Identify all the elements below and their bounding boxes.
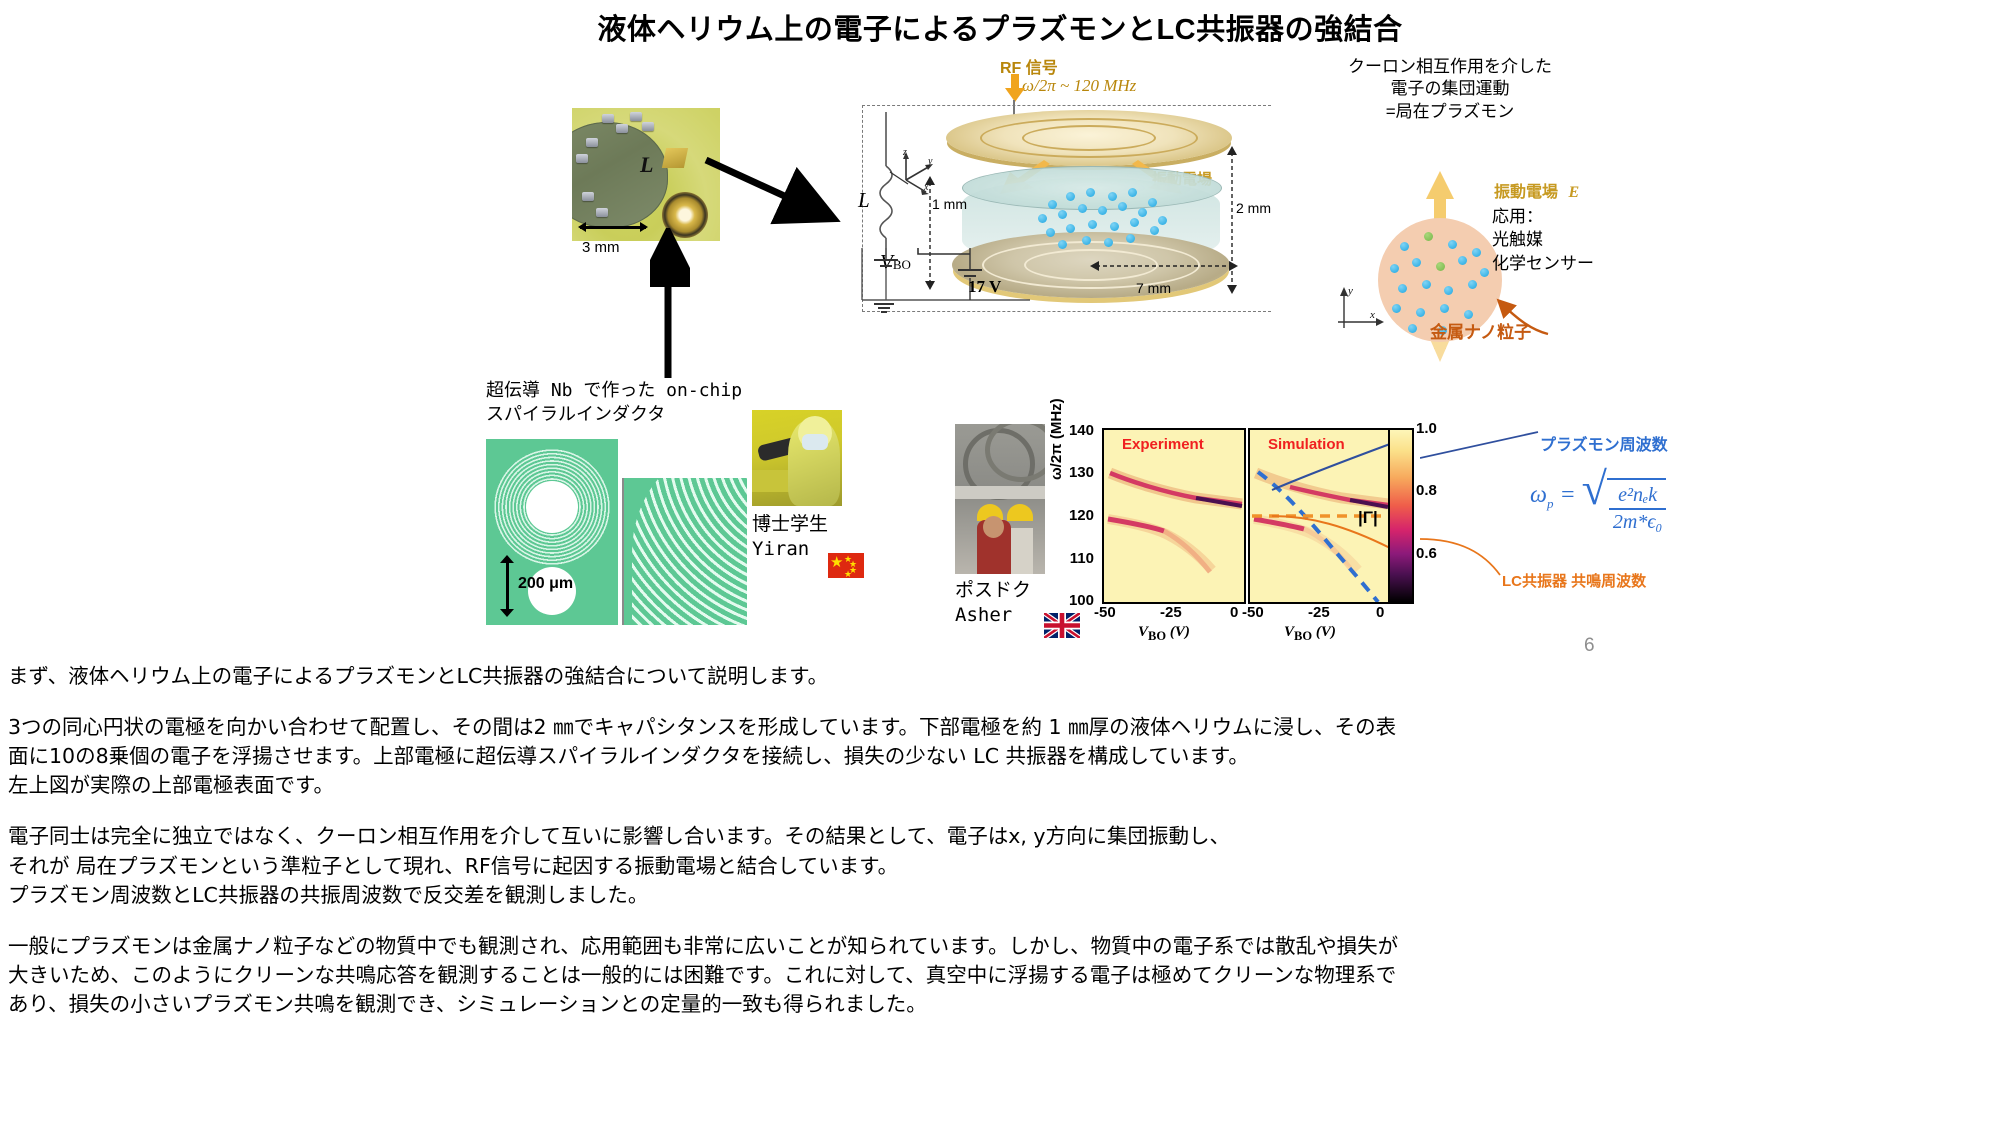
experiment-panel: Experiment bbox=[1102, 428, 1246, 604]
dimension-1mm-label: 1 mm bbox=[932, 196, 967, 212]
equation-numerator: e²nₑk bbox=[1609, 484, 1666, 508]
coulomb-caption-line1: クーロン相互作用を介した bbox=[1300, 56, 1600, 78]
rf-frequency-label: ω/2π ~ 120 MHz bbox=[1022, 76, 1136, 96]
spiral-inductor-zoom-image bbox=[622, 478, 747, 625]
anticrossing-figure: ω/2π (MHz) 140 130 120 110 100 Experimen… bbox=[1058, 412, 1478, 642]
colorbar-label: |Γ| bbox=[1358, 508, 1378, 528]
coulomb-caption-line3: =局在プラズモン bbox=[1300, 101, 1600, 123]
paragraph-2-line-2: 面に10の8乗個の電子を浮揚させます。上部電極に超伝導スパイラルインダクタを接続… bbox=[8, 742, 1993, 771]
wirebond bbox=[642, 122, 654, 131]
phd-student-role: 博士学生 bbox=[752, 512, 828, 537]
y-tick-120: 120 bbox=[1060, 507, 1094, 524]
plasmon-frequency-equation: ωp = √ e²nₑk 2m*ϵ₀ bbox=[1530, 468, 1666, 534]
application-item-2: 化学センサー bbox=[1492, 252, 1594, 275]
page-number: 6 bbox=[1584, 635, 1595, 657]
postdoc-caption: ポスドク Asher bbox=[955, 578, 1031, 627]
scale-bar-3mm bbox=[578, 220, 648, 234]
equation-radical-icon: √ bbox=[1576, 468, 1607, 510]
colorbar bbox=[1388, 428, 1414, 604]
rf-down-arrow-icon bbox=[1005, 74, 1031, 104]
experiment-tag: Experiment bbox=[1122, 436, 1204, 453]
wirebond bbox=[582, 192, 594, 201]
dimension-7mm-arrow bbox=[1090, 256, 1240, 276]
postdoc-name: Asher bbox=[955, 603, 1031, 628]
oscillating-field-E-label: 振動電場 E bbox=[1494, 178, 1579, 202]
dimension-7mm-label: 7 mm bbox=[1136, 280, 1171, 296]
nb-inductor-caption: 超伝導 Nb で作った on-chip スパイラルインダクタ bbox=[486, 379, 742, 428]
paragraph-4-line-2: 大きいため、このようにクリーンな共鳴応答を観測することは一般的には困難です。これ… bbox=[8, 961, 1993, 990]
phd-student-name: Yiran bbox=[752, 537, 828, 562]
wirebond bbox=[586, 138, 598, 147]
narration-text: まず、液体ヘリウム上の電子によるプラズモンとLC共振器の強結合について説明します… bbox=[8, 662, 1993, 1019]
paragraph-4-line-3: あり、損失の小さいプラズモン共鳴を観測でき、シミュレーションとの定量的一致も得ら… bbox=[8, 990, 1993, 1019]
wirebond bbox=[616, 124, 628, 133]
dimension-2mm-label: 2 mm bbox=[1236, 200, 1271, 216]
y-tick-140: 140 bbox=[1060, 422, 1094, 439]
x-axis-label-simulation: VBO (V) bbox=[1284, 624, 1336, 644]
equation-fraction: e²nₑk 2m*ϵ₀ bbox=[1607, 478, 1666, 534]
top-electrode bbox=[946, 110, 1232, 166]
wirebond bbox=[602, 114, 614, 123]
wirebond bbox=[576, 154, 588, 163]
bottom-voltage-label: 17 V bbox=[968, 277, 1001, 297]
svg-text:y: y bbox=[927, 156, 933, 167]
coulomb-caption: クーロン相互作用を介した 電子の集団運動 =局在プラズモン bbox=[1300, 56, 1600, 123]
simulation-tag: Simulation bbox=[1268, 436, 1345, 453]
metal-nanoparticle-label: 金属ナノ粒子 bbox=[1430, 318, 1531, 343]
equation-denominator: 2m*ϵ₀ bbox=[1609, 508, 1666, 534]
paragraph-3-line-2: それが 局在プラズモンという準粒子として現れ、RF信号に起因する振動電場と結合し… bbox=[8, 852, 1993, 881]
paragraph-2-line-1: 3つの同心円状の電極を向かい合わせて配置し、その間は2 ㎜でキャパシタンスを形成… bbox=[8, 713, 1993, 742]
scale-bar-3mm-label: 3 mm bbox=[582, 239, 620, 256]
paragraph-3-line-1: 電子同士は完全に独立ではなく、クーロン相互作用を介して互いに影響し合います。その… bbox=[8, 822, 1993, 851]
scale-bar-200um bbox=[500, 555, 514, 617]
electron-cloud bbox=[962, 178, 1220, 258]
application-title: 応用： bbox=[1492, 205, 1594, 228]
arrow-inductor-to-chip bbox=[650, 228, 690, 388]
inductor-symbol-photo: L bbox=[640, 152, 653, 178]
coordinate-axes-2d-icon: y x bbox=[1330, 282, 1390, 332]
field-symbol: E bbox=[1562, 184, 1579, 201]
x-tick-sim--25: -25 bbox=[1308, 604, 1330, 621]
x-tick-exp--25: -25 bbox=[1160, 604, 1182, 621]
nb-inductor-caption-line1: 超伝導 Nb で作った on-chip bbox=[486, 379, 742, 403]
lc-resonance-label: LC共振器 共鳴周波数 bbox=[1502, 570, 1646, 591]
cleanroom-photograph bbox=[752, 410, 842, 506]
equation-lhs: ωp = bbox=[1530, 468, 1576, 512]
postdoc-role: ポスドク bbox=[955, 578, 1031, 603]
field-label-text: 振動電場 bbox=[1494, 184, 1558, 201]
x-tick-sim--50: -50 bbox=[1242, 604, 1264, 621]
svg-text:z: z bbox=[902, 150, 907, 158]
paragraph-4-line-1: 一般にプラズモンは金属ナノ粒子などの物質中でも観測され、応用範囲も非常に広いこと… bbox=[8, 932, 1993, 961]
paragraph-1: まず、液体ヘリウム上の電子によるプラズモンとLC共振器の強結合について説明します… bbox=[8, 662, 1993, 691]
inductor-label: L bbox=[858, 188, 870, 213]
china-flag-icon: ★ ★ ★ ★ ★ bbox=[828, 553, 864, 578]
plasmon-frequency-label: プラズモン周波数 bbox=[1540, 431, 1668, 455]
phd-student-caption: 博士学生 Yiran bbox=[752, 512, 828, 561]
application-caption: 応用： 光触媒 化学センサー bbox=[1492, 205, 1594, 275]
x-axis-label-experiment: VBO (V) bbox=[1138, 624, 1190, 644]
lab-photograph bbox=[955, 424, 1045, 574]
paragraph-3-line-3: プラズモン周波数とLC共振器の共振周波数で反交差を観測しました。 bbox=[8, 881, 1993, 910]
svg-text:y: y bbox=[1347, 285, 1353, 297]
wirebond bbox=[630, 112, 642, 121]
y-tick-110: 110 bbox=[1060, 550, 1094, 567]
paragraph-2-line-3: 左上図が実際の上部電極表面です。 bbox=[8, 771, 1993, 800]
x-tick-exp-0: 0 bbox=[1230, 604, 1238, 621]
application-item-1: 光触媒 bbox=[1492, 228, 1594, 251]
x-tick-sim-0: 0 bbox=[1376, 604, 1384, 621]
scale-bar-200um-label: 200 μm bbox=[518, 575, 573, 593]
y-tick-130: 130 bbox=[1060, 464, 1094, 481]
y-tick-100: 100 bbox=[1060, 592, 1094, 609]
arrow-chip-to-schematic bbox=[700, 140, 880, 250]
page-title: 液体ヘリウム上の電子によるプラズモンとLC共振器の強結合 bbox=[0, 6, 2000, 48]
plasmon-callout-line bbox=[1420, 424, 1550, 464]
colorbar-tick-2: 0.8 bbox=[1416, 482, 1437, 499]
x-tick-exp--50: -50 bbox=[1094, 604, 1116, 621]
nb-inductor-caption-line2: スパイラルインダクタ bbox=[486, 403, 742, 427]
wirebond bbox=[596, 208, 608, 217]
svg-text:x: x bbox=[1369, 309, 1375, 321]
bond-pad bbox=[662, 148, 688, 168]
coulomb-caption-line2: 電子の集団運動 bbox=[1300, 78, 1600, 100]
